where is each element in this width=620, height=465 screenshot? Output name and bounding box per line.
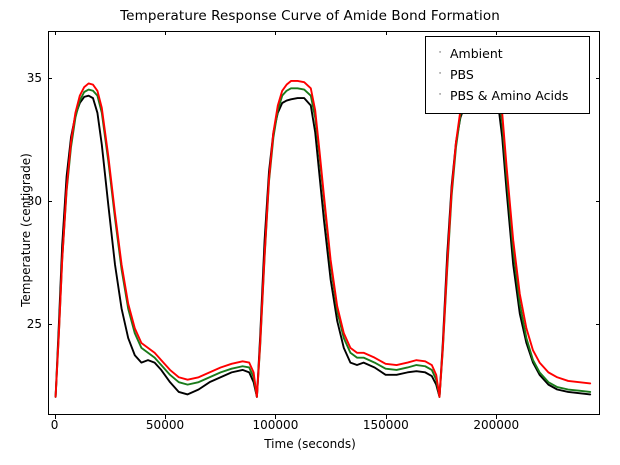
series-line — [56, 86, 591, 397]
legend-item: · PBS — [434, 64, 581, 85]
legend-marker-icon: · — [434, 91, 446, 100]
x-tick-mark-top — [165, 31, 166, 35]
legend: · Ambient · PBS · PBS & Amino Acids — [425, 36, 590, 114]
x-tick-label: 50000 — [120, 418, 210, 432]
x-tick-mark-top — [496, 31, 497, 35]
x-tick-mark-top — [386, 31, 387, 35]
x-tick-label: 100000 — [230, 418, 320, 432]
chart-title: Temperature Response Curve of Amide Bond… — [0, 8, 620, 24]
legend-label: Ambient — [450, 46, 503, 61]
x-tick-mark-top — [55, 31, 56, 35]
y-tick-mark — [48, 324, 52, 325]
x-tick-label: 200000 — [451, 418, 541, 432]
y-tick-mark-right — [596, 78, 600, 79]
legend-item: · PBS & Amino Acids — [434, 85, 581, 106]
legend-marker-icon: · — [434, 49, 446, 58]
y-tick-mark-right — [596, 324, 600, 325]
x-tick-label: 0 — [10, 418, 100, 432]
legend-item: · Ambient — [434, 43, 581, 64]
x-tick-mark-top — [275, 31, 276, 35]
x-axis-label: Time (seconds) — [0, 437, 620, 451]
y-tick-mark — [48, 78, 52, 79]
y-tick-mark — [48, 201, 52, 202]
legend-label: PBS & Amino Acids — [450, 88, 568, 103]
x-tick-label: 150000 — [341, 418, 431, 432]
legend-marker-icon: · — [434, 70, 446, 79]
y-tick-mark-right — [596, 201, 600, 202]
y-axis-label: Temperature (centigrade) — [19, 80, 33, 380]
figure: Temperature Response Curve of Amide Bond… — [0, 0, 620, 465]
series-line — [56, 96, 591, 397]
legend-label: PBS — [450, 67, 474, 82]
